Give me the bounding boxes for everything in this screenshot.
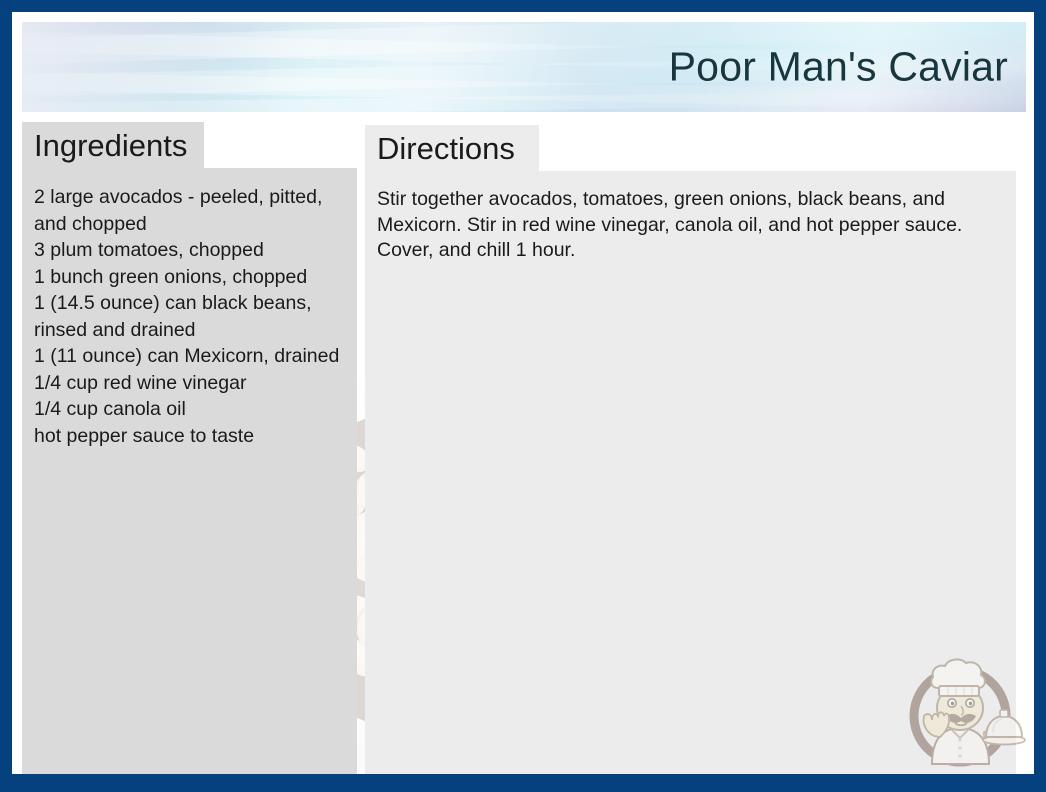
directions-panel: Directions Stir together avocados, tomat… (365, 125, 1016, 774)
recipe-title: Poor Man's Caviar (669, 44, 1008, 91)
ingredients-heading: Ingredients (34, 128, 187, 164)
ingredient-item: 1 bunch green onions, chopped (34, 264, 343, 291)
title-banner: Poor Man's Caviar (22, 22, 1026, 112)
ingredient-item: 1/4 cup canola oil (34, 396, 343, 423)
ingredients-body: 2 large avocados - peeled, pitted, and c… (34, 184, 343, 449)
ingredient-item: 1/4 cup red wine vinegar (34, 370, 343, 397)
ingredient-item: hot pepper sauce to taste (34, 423, 343, 450)
directions-heading: Directions (377, 131, 515, 167)
ingredient-list: 2 large avocados - peeled, pitted, and c… (34, 184, 343, 449)
ingredients-header-notch (204, 122, 357, 168)
directions-body: Stir together avocados, tomatoes, green … (377, 187, 1002, 264)
ingredient-item: 1 (11 ounce) can Mexicorn, drained (34, 343, 343, 370)
directions-text: Stir together avocados, tomatoes, green … (377, 187, 1002, 264)
ingredient-item: 2 large avocados - peeled, pitted, and c… (34, 184, 343, 237)
ingredients-panel: Ingredients 2 large avocados - peeled, p… (22, 122, 357, 774)
ingredient-item: 1 (14.5 ounce) can black beans, rinsed a… (34, 290, 343, 343)
ingredient-item: 3 plum tomatoes, chopped (34, 237, 343, 264)
directions-header-notch (539, 125, 1016, 171)
recipe-card: Poor Man's Caviar Ingredients 2 large av… (0, 0, 1046, 792)
recipe-page: Poor Man's Caviar Ingredients 2 large av… (12, 12, 1034, 774)
